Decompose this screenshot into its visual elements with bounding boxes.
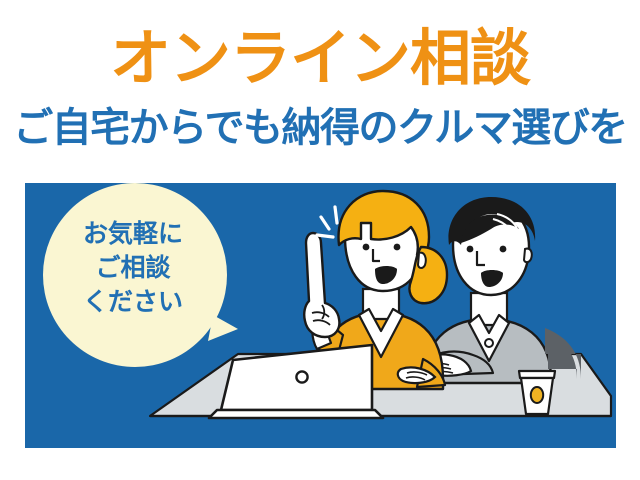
page-title: オンライン相談 bbox=[0, 28, 640, 89]
page-subtitle: ご自宅からでも納得のクルマ選びを bbox=[0, 108, 640, 148]
bubble-line-1: お気軽に bbox=[43, 217, 223, 251]
speech-bubble-text: お気軽に ご相談 ください bbox=[43, 217, 223, 319]
illustration-panel: お気軽に ご相談 ください bbox=[25, 183, 616, 448]
takeaway-coffee-cup bbox=[519, 371, 555, 414]
bubble-line-3: ください bbox=[43, 285, 223, 319]
bubble-line-2: ご相談 bbox=[43, 251, 223, 285]
online-consultation-banner: オンライン相談 ご自宅からでも納得のクルマ選びを bbox=[0, 0, 640, 480]
